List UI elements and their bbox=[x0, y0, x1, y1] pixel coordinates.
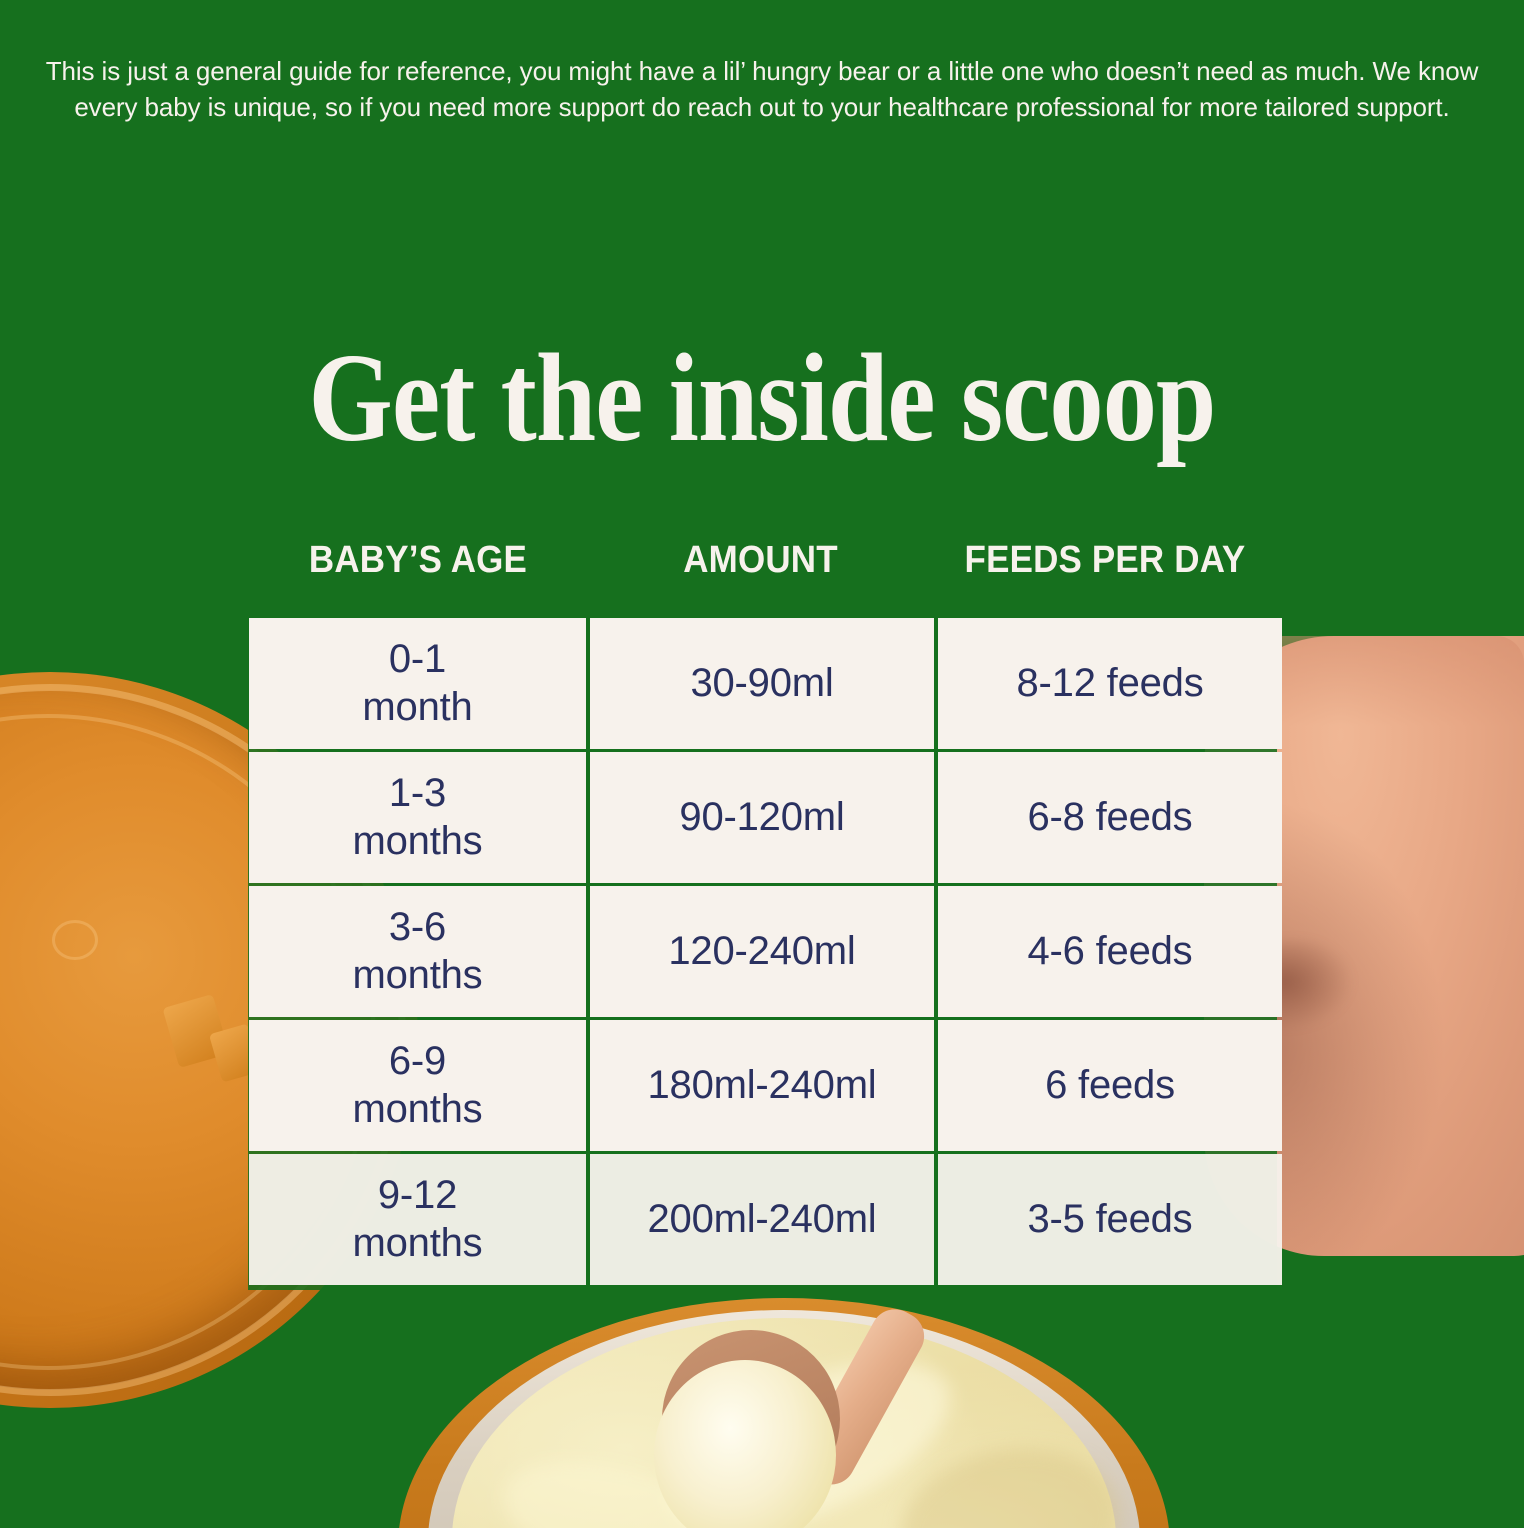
powder-highlight bbox=[490, 1438, 761, 1528]
tin-lid-emboss bbox=[52, 920, 98, 960]
column-header-babys-age: BABY’S AGE bbox=[262, 532, 575, 588]
table-cell-amount: 180ml-240ml bbox=[590, 1020, 934, 1151]
table-cell-feeds: 3-5 feeds bbox=[938, 1154, 1282, 1285]
table-cell-age: 3-6 months bbox=[249, 886, 586, 1017]
powder-shadow bbox=[889, 1432, 1132, 1528]
table-cell-age: 0-1 month bbox=[249, 618, 586, 749]
table-cell-feeds: 4-6 feeds bbox=[938, 886, 1282, 1017]
table-cell-feeds: 6-8 feeds bbox=[938, 752, 1282, 883]
column-header-feeds-per-day: FEEDS PER DAY bbox=[947, 532, 1263, 588]
table-cell-age: 6-9 months bbox=[249, 1020, 586, 1151]
scoop-handle-icon bbox=[793, 1301, 932, 1493]
infographic-page: This is just a general guide for referen… bbox=[0, 0, 1524, 1528]
intro-disclaimer: This is just a general guide for referen… bbox=[42, 54, 1482, 126]
table-column-headers: BABY’S AGE AMOUNT FEEDS PER DAY bbox=[248, 532, 1277, 588]
scoop-cup-icon bbox=[662, 1330, 840, 1508]
formula-powder bbox=[452, 1318, 1116, 1528]
table-cell-amount: 30-90ml bbox=[590, 618, 934, 749]
page-title: Get the inside scoop bbox=[107, 336, 1418, 462]
formula-tin-rim bbox=[428, 1310, 1140, 1528]
table-cell-amount: 200ml-240ml bbox=[590, 1154, 934, 1285]
table-cell-feeds: 6 feeds bbox=[938, 1020, 1282, 1151]
powder-highlight bbox=[647, 1327, 974, 1528]
table-cell-amount: 90-120ml bbox=[590, 752, 934, 883]
feeding-guide-table: 0-1 month 30-90ml 8-12 feeds 1-3 months … bbox=[248, 617, 1277, 1290]
tin-lid-tab bbox=[162, 994, 229, 1068]
table-cell-age: 9-12 months bbox=[249, 1154, 586, 1285]
scoop-powder-fill bbox=[654, 1360, 836, 1528]
formula-tin-body bbox=[398, 1298, 1170, 1528]
table-cell-amount: 120-240ml bbox=[590, 886, 934, 1017]
table-cell-age: 1-3 months bbox=[249, 752, 586, 883]
table-cell-feeds: 8-12 feeds bbox=[938, 618, 1282, 749]
column-header-amount: AMOUNT bbox=[602, 532, 919, 588]
table-body: 0-1 month 30-90ml 8-12 feeds 1-3 months … bbox=[248, 617, 1277, 1290]
